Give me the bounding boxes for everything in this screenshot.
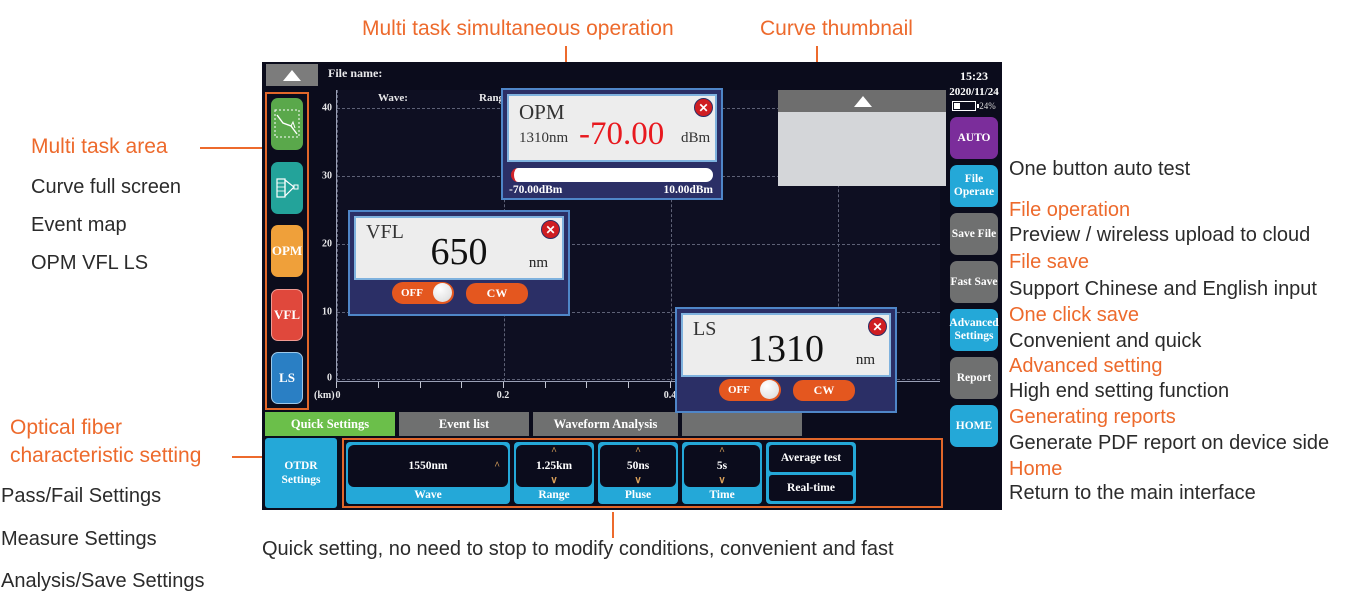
toggle-knob[interactable] (433, 283, 452, 302)
chevron-down-icon[interactable]: ∨ (718, 475, 725, 486)
setting-wave[interactable]: 1550nm ^ Wave (346, 442, 510, 504)
annotation-generate-pdf-report: Generate PDF report on device side (1009, 430, 1329, 456)
quick-settings-group: 1550nm ^ Wave ^ 1.25km ∨ Range ^ 50ns ∨ (342, 438, 943, 508)
x-axis-unit-label: (km) (314, 390, 335, 401)
vfl-panel[interactable]: VFL 650 nm ✕ OFF CW (348, 210, 570, 316)
setting-time[interactable]: ^ 5s ∨ Time (682, 442, 762, 504)
annotation-curve-thumbnail: Curve thumbnail (760, 16, 913, 42)
vfl-power-toggle[interactable]: OFF (392, 282, 454, 304)
tab-quick-settings[interactable]: Quick Settings (265, 412, 395, 436)
y-tick-10: 10 (322, 307, 332, 318)
toggle-knob[interactable] (760, 380, 779, 399)
x-tickmark (628, 382, 629, 388)
status-time: 15:23 (960, 69, 988, 84)
annotation-home: Home (1009, 456, 1062, 482)
ls-power-toggle[interactable]: OFF (719, 379, 781, 401)
opm-close-icon[interactable]: ✕ (694, 98, 713, 117)
vfl-close-icon[interactable]: ✕ (541, 220, 560, 239)
opm-panel[interactable]: OPM 1310nm -70.00 dBm ✕ -70.00dBm 10.00d… (501, 88, 723, 200)
advanced-settings-button[interactable]: Advanced Settings (950, 309, 998, 351)
curve-icon (274, 104, 300, 144)
range-label: Range (538, 487, 569, 501)
battery-icon (952, 101, 976, 111)
range-value: 1.25km (536, 460, 572, 472)
annotation-multi-task-area: Multi task area (31, 134, 168, 160)
opm-panel-title: OPM (519, 100, 565, 125)
range-value-field[interactable]: ^ 1.25km ∨ (516, 445, 592, 487)
time-label: Time (709, 487, 734, 501)
annotation-return-main-interface: Return to the main interface (1009, 480, 1256, 506)
file-name-label: File name: (328, 66, 382, 81)
ls-panel[interactable]: LS 1310 nm ✕ OFF CW (675, 307, 897, 413)
time-value: 5s (717, 460, 727, 472)
annotation-high-end-setting-function: High end setting function (1009, 378, 1229, 404)
tab-waveform-analysis[interactable]: Waveform Analysis (533, 412, 678, 436)
vfl-panel-screen: VFL 650 nm (354, 216, 564, 280)
setting-range[interactable]: ^ 1.25km ∨ Range (514, 442, 594, 504)
annotation-optical-fiber-1: Optical fiber (10, 415, 122, 441)
quick-settings-bar: OTDR Settings 1550nm ^ Wave ^ 1.25km ∨ R… (265, 438, 943, 508)
rail-item-curve-full-screen[interactable] (271, 98, 303, 150)
curve-thumbnail[interactable] (778, 90, 948, 186)
tab-bar: Quick Settings Event list Waveform Analy… (265, 412, 943, 436)
wave-value-field[interactable]: 1550nm ^ (348, 445, 508, 487)
otdr-settings-label-1: OTDR (284, 459, 317, 473)
y-tick-0: 0 (327, 373, 332, 384)
chevron-down-icon[interactable]: ∨ (634, 475, 641, 486)
rail-item-ls[interactable]: LS (271, 352, 303, 404)
test-mode-group: Average test Real-time (766, 442, 856, 504)
ls-close-icon[interactable]: ✕ (868, 317, 887, 336)
x-tickmark (670, 382, 671, 388)
plot-label-wave: Wave: (378, 92, 408, 104)
opm-power-value: -70.00 (579, 116, 664, 153)
event-map-icon (274, 171, 300, 205)
triangle-up-icon (854, 96, 872, 107)
annotation-preview-wireless-upload: Preview / wireless upload to cloud (1009, 222, 1310, 248)
annotation-opm-vfl-ls: OPM VFL LS (31, 250, 148, 276)
annotation-generating-reports: Generating reports (1009, 404, 1176, 430)
auto-button-label: AUTO (957, 132, 990, 145)
leader-line-quick-setting (612, 512, 614, 538)
opm-range-max: 10.00dBm (663, 184, 713, 196)
vfl-toggle-label: OFF (401, 287, 423, 299)
device-top-bar: File name: (262, 62, 1002, 88)
otdr-settings-button[interactable]: OTDR Settings (265, 438, 337, 508)
annotation-pass-fail-settings: Pass/Fail Settings (1, 483, 161, 509)
otdr-settings-label-2: Settings (282, 473, 321, 487)
leader-line-multi-task-area (200, 147, 262, 149)
vfl-cw-button[interactable]: CW (466, 283, 528, 304)
wave-label: Wave (414, 487, 441, 501)
triangle-up-icon (283, 70, 301, 81)
ls-cw-button[interactable]: CW (793, 380, 855, 401)
annotation-optical-fiber-2: characteristic setting (10, 443, 201, 469)
rail-item-vfl[interactable]: VFL (271, 289, 303, 341)
x-tickmark (586, 382, 587, 388)
report-button[interactable]: Report (950, 357, 998, 399)
y-tick-40: 40 (322, 103, 332, 114)
file-operate-label-1: File (965, 173, 984, 186)
curve-thumbnail-header[interactable] (778, 90, 948, 112)
advanced-settings-label-2: Settings (955, 330, 994, 343)
tab-4[interactable] (682, 412, 802, 436)
auto-button[interactable]: AUTO (950, 117, 998, 159)
annotation-file-operation: File operation (1009, 197, 1130, 223)
rail-item-opm[interactable]: OPM (271, 225, 303, 277)
annotation-one-button-auto-test: One button auto test (1009, 156, 1190, 182)
opm-range-min: -70.00dBm (509, 184, 562, 196)
file-operate-label-2: Operate (954, 186, 994, 199)
annotation-measure-settings: Measure Settings (1, 526, 157, 552)
ls-unit: nm (856, 352, 875, 369)
chevron-up-icon[interactable]: ^ (551, 446, 557, 457)
annotation-support-chinese-english: Support Chinese and English input (1009, 276, 1317, 302)
time-value-field[interactable]: ^ 5s ∨ (684, 445, 760, 487)
pulse-value-field[interactable]: ^ 50ns ∨ (600, 445, 676, 487)
y-tick-20: 20 (322, 239, 332, 250)
annotation-event-map: Event map (31, 212, 127, 238)
opm-panel-screen: OPM 1310nm -70.00 dBm (507, 94, 717, 162)
vfl-unit: nm (529, 255, 548, 272)
home-button-label: HOME (956, 420, 992, 433)
annotation-file-save: File save (1009, 249, 1089, 275)
rail-item-event-map[interactable] (271, 162, 303, 214)
fast-save-label: Fast Save (951, 276, 998, 289)
gridline-v (337, 90, 338, 381)
x-tick-0.2: 0.2 (497, 390, 510, 401)
ls-toggle-label: OFF (728, 384, 750, 396)
real-time-button[interactable]: Real-time (769, 475, 853, 502)
annotation-analysis-save-settings: Analysis/Save Settings (1, 568, 204, 594)
x-tickmark (461, 382, 462, 388)
average-test-button[interactable]: Average test (769, 445, 853, 472)
right-control-column: 15:23 2020/11/24 24% AUTO File Operate S… (946, 62, 1002, 510)
wave-value: 1550nm (409, 460, 448, 472)
battery-indicator: 24% (952, 101, 996, 111)
x-tickmark (336, 382, 337, 388)
status-date: 2020/11/24 (949, 86, 999, 98)
ls-panel-screen: LS 1310 nm (681, 313, 891, 377)
setting-pulse[interactable]: ^ 50ns ∨ Pluse (598, 442, 678, 504)
file-operate-button[interactable]: File Operate (950, 165, 998, 207)
opm-power-unit: dBm (681, 130, 710, 147)
x-tickmark (503, 382, 504, 388)
opm-level-slider[interactable] (511, 168, 713, 182)
x-tickmark (378, 382, 379, 388)
save-file-label: Save File (952, 228, 996, 241)
chevron-down-icon[interactable]: ∨ (550, 475, 557, 486)
multi-task-rail: OPM VFL LS (265, 92, 309, 410)
battery-percent: 24% (979, 101, 996, 111)
fast-save-button[interactable]: Fast Save (950, 261, 998, 303)
advanced-settings-label-1: Advanced (949, 317, 998, 330)
leader-line-optical-fiber (232, 456, 266, 458)
annotation-advanced-setting: Advanced setting (1009, 353, 1162, 379)
pulse-value: 50ns (627, 460, 649, 472)
annotation-multi-task-simultaneous: Multi task simultaneous operation (362, 16, 674, 42)
x-tickmark (545, 382, 546, 388)
home-button[interactable]: HOME (950, 405, 998, 447)
chevron-up-icon[interactable]: ^ (494, 461, 500, 472)
top-home-button[interactable] (266, 64, 318, 86)
chevron-up-icon[interactable]: ^ (719, 446, 725, 457)
x-tick-0: 0 (336, 390, 341, 401)
annotation-convenient-and-quick: Convenient and quick (1009, 328, 1201, 354)
annotation-one-click-save: One click save (1009, 302, 1139, 328)
report-label: Report (957, 372, 992, 385)
device-screen: File name: OPM VFL LS 40 (262, 62, 1002, 510)
chevron-up-icon[interactable]: ^ (635, 446, 641, 457)
y-axis: 40 30 20 10 0 (312, 90, 334, 382)
y-tick-30: 30 (322, 171, 332, 182)
curve-thumbnail-body (778, 112, 948, 186)
opm-wavelength: 1310nm (519, 130, 568, 147)
pulse-label: Pluse (625, 487, 651, 501)
annotation-curve-full-screen: Curve full screen (31, 174, 181, 200)
save-file-button[interactable]: Save File (950, 213, 998, 255)
annotation-quick-setting-caption: Quick setting, no need to stop to modify… (262, 536, 894, 562)
tab-event-list[interactable]: Event list (399, 412, 529, 436)
x-tickmark (420, 382, 421, 388)
